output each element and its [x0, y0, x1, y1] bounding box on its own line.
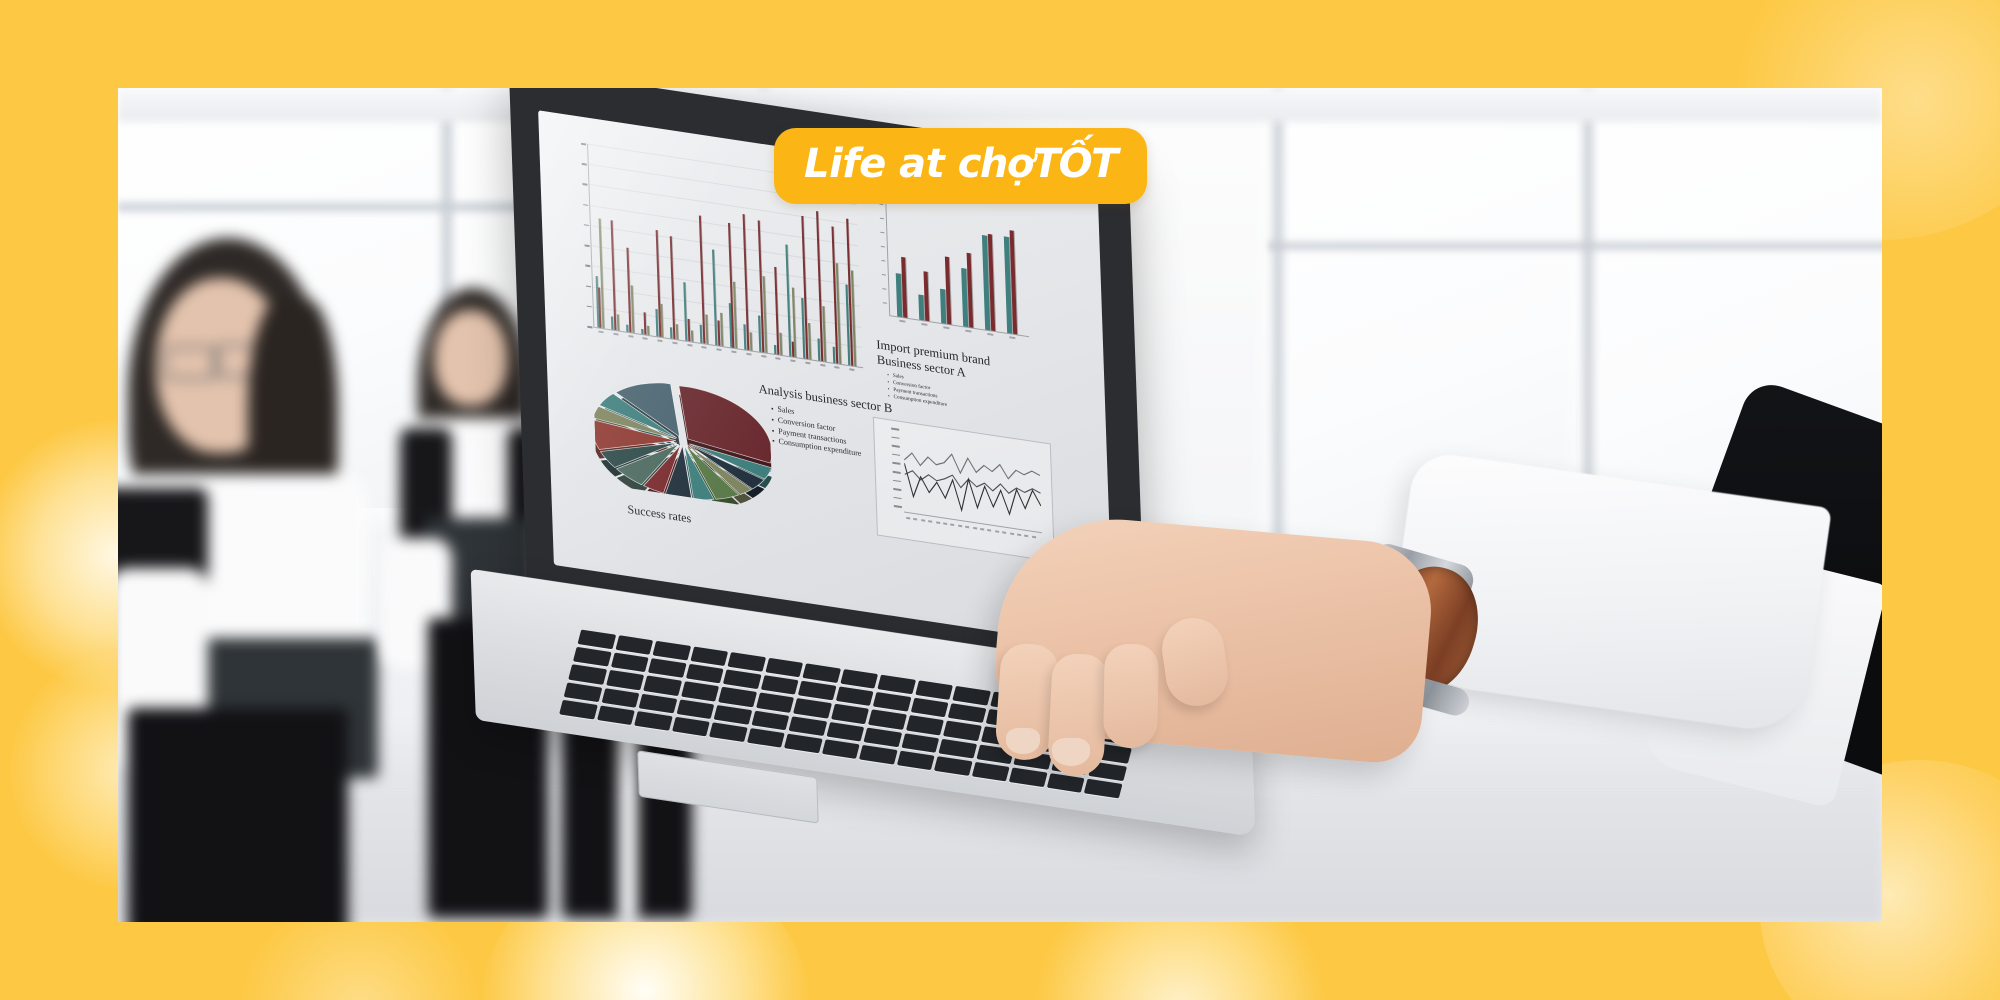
y-tick [891, 428, 899, 431]
bar [643, 312, 646, 334]
bar [712, 250, 717, 345]
bar [774, 266, 779, 354]
keyboard-key[interactable] [826, 722, 864, 742]
y-tick [892, 453, 900, 456]
x-tick [1032, 536, 1036, 539]
bar [691, 330, 693, 341]
keyboard-key[interactable] [564, 682, 602, 702]
x-tick [914, 518, 918, 521]
x-tick [973, 527, 977, 530]
keyboard-key[interactable] [676, 699, 714, 719]
keyboard-key[interactable] [948, 703, 986, 723]
bar [683, 282, 687, 341]
keyboard-key[interactable] [864, 727, 902, 747]
x-tick [687, 344, 692, 347]
y-tick [582, 163, 587, 165]
x-tick [702, 346, 707, 349]
keyboard-key[interactable] [873, 692, 911, 712]
x-tick [906, 517, 910, 520]
x-tick [928, 520, 932, 523]
pie-svg [593, 373, 773, 510]
keyboard-key[interactable] [685, 664, 723, 684]
y-tick [882, 288, 886, 290]
badge-prefix: Life at [804, 141, 958, 187]
pie-caption: Success rates [627, 502, 691, 527]
hero-photo: Import premium brand Business sector A S… [118, 88, 1882, 922]
y-tick [583, 204, 588, 206]
y-tick [892, 462, 900, 465]
x-tick [987, 333, 993, 336]
bar [750, 332, 753, 351]
bar [944, 256, 951, 324]
x-tick [805, 362, 810, 365]
y-tick [892, 445, 900, 448]
x-tick [820, 364, 825, 367]
x-tick [776, 357, 781, 360]
y-tick [585, 265, 590, 267]
bar [641, 328, 643, 334]
keyboard-key[interactable] [648, 658, 686, 678]
x-tick [1010, 532, 1014, 535]
y-tick [883, 302, 887, 304]
y-tick [582, 183, 587, 185]
y-tick [893, 488, 901, 491]
keyboard-key[interactable] [601, 688, 639, 708]
finger-ring [1103, 644, 1159, 749]
x-tick [965, 330, 971, 333]
keyboard-key[interactable] [723, 670, 761, 690]
poster-canvas: Import premium brand Business sector A S… [0, 0, 2000, 1000]
line-series-path [904, 463, 1041, 522]
keyboard-key[interactable] [610, 653, 648, 673]
y-tick [587, 326, 592, 328]
badge-label: Life at chợTỐT [804, 144, 1117, 184]
x-tick [850, 368, 855, 371]
keyboard-key[interactable] [939, 739, 977, 759]
keyboard-key[interactable] [831, 704, 869, 724]
keyboard-key[interactable] [606, 670, 644, 690]
x-tick [958, 525, 962, 528]
bar [617, 314, 620, 331]
y-tick [880, 232, 884, 234]
y-tick [581, 143, 586, 145]
y-tick [891, 436, 899, 439]
y-tick [585, 244, 590, 246]
fingernail [1006, 728, 1040, 754]
x-tick [1002, 531, 1006, 534]
bar [626, 324, 628, 332]
keyboard-key[interactable] [568, 665, 606, 685]
bar [631, 285, 635, 333]
y-tick [880, 218, 884, 220]
x-tick [1024, 535, 1028, 538]
keyboard-key[interactable] [910, 698, 948, 718]
bars-group [889, 203, 1025, 335]
keyboard-key[interactable] [798, 681, 836, 701]
bar [785, 244, 791, 356]
bar [901, 256, 908, 317]
x-tick [899, 320, 905, 323]
keyboard-key[interactable] [714, 705, 752, 725]
life-at-chotot-badge: Life at chợTỐT [774, 128, 1147, 204]
x-tick [613, 333, 618, 336]
bar [670, 236, 676, 339]
x-tick [643, 337, 648, 340]
bar [647, 326, 649, 335]
bar [720, 313, 723, 346]
secondary-bar-chart [871, 194, 1034, 353]
keyboard-key[interactable] [639, 693, 677, 713]
bar [611, 220, 617, 330]
laptop: Import premium brand Business sector A S… [118, 88, 1882, 922]
y-tick [893, 479, 901, 482]
sector-b-bullets: Sales Conversion factor Payment transact… [771, 403, 862, 460]
keyboard-key[interactable] [901, 733, 939, 753]
x-tick [988, 529, 992, 532]
bar [779, 333, 782, 355]
line-series-path [904, 447, 1041, 485]
bar [705, 314, 708, 344]
keyboard-key[interactable] [943, 721, 981, 741]
y-tick [894, 505, 902, 508]
keyboard-key[interactable] [789, 716, 827, 736]
y-tick [587, 305, 592, 307]
x-tick [943, 522, 947, 525]
x-tick [936, 521, 940, 524]
y-tick [882, 274, 886, 276]
x-tick [921, 323, 927, 326]
keyboard-key[interactable] [681, 682, 719, 702]
x-tick [746, 353, 751, 356]
x-tick [995, 530, 999, 533]
pie-slices [593, 373, 773, 510]
x-tick [951, 524, 955, 527]
keyboard-key[interactable] [751, 710, 789, 730]
x-tick [921, 519, 925, 522]
bar [918, 295, 923, 320]
y-tick [894, 497, 902, 500]
bar [661, 304, 664, 337]
x-tick [628, 335, 633, 338]
x-tick [598, 330, 603, 333]
keyboard-key[interactable] [573, 647, 611, 667]
x-tick [731, 350, 736, 353]
badge-brand: chợTỐT [958, 141, 1117, 187]
keyboard-key[interactable] [760, 675, 798, 695]
x-tick [943, 326, 949, 329]
keyboard-key[interactable] [868, 710, 906, 730]
keyboard-key[interactable] [756, 693, 794, 713]
fingernail [1052, 738, 1090, 766]
y-tick [893, 471, 901, 474]
keyboard-key[interactable] [835, 687, 873, 707]
x-tick [835, 366, 840, 369]
keyboard-key[interactable] [906, 715, 944, 735]
y-tick [881, 260, 885, 262]
x-tick [1009, 336, 1015, 339]
x-tick [717, 348, 722, 351]
y-tick [881, 246, 885, 248]
bar [923, 271, 929, 321]
x-tick [790, 359, 795, 362]
keyboard-key[interactable] [643, 676, 681, 696]
bar [676, 325, 679, 340]
x-tick [965, 526, 969, 529]
y-tick [586, 285, 591, 287]
x-tick [658, 339, 663, 342]
x-tick [980, 528, 984, 531]
x-tick [672, 342, 677, 345]
x-tick [761, 355, 766, 358]
y-tick [584, 224, 589, 226]
keyboard-key[interactable] [718, 687, 756, 707]
x-tick [1017, 534, 1021, 537]
keyboard-key[interactable] [793, 698, 831, 718]
bar [808, 323, 811, 360]
